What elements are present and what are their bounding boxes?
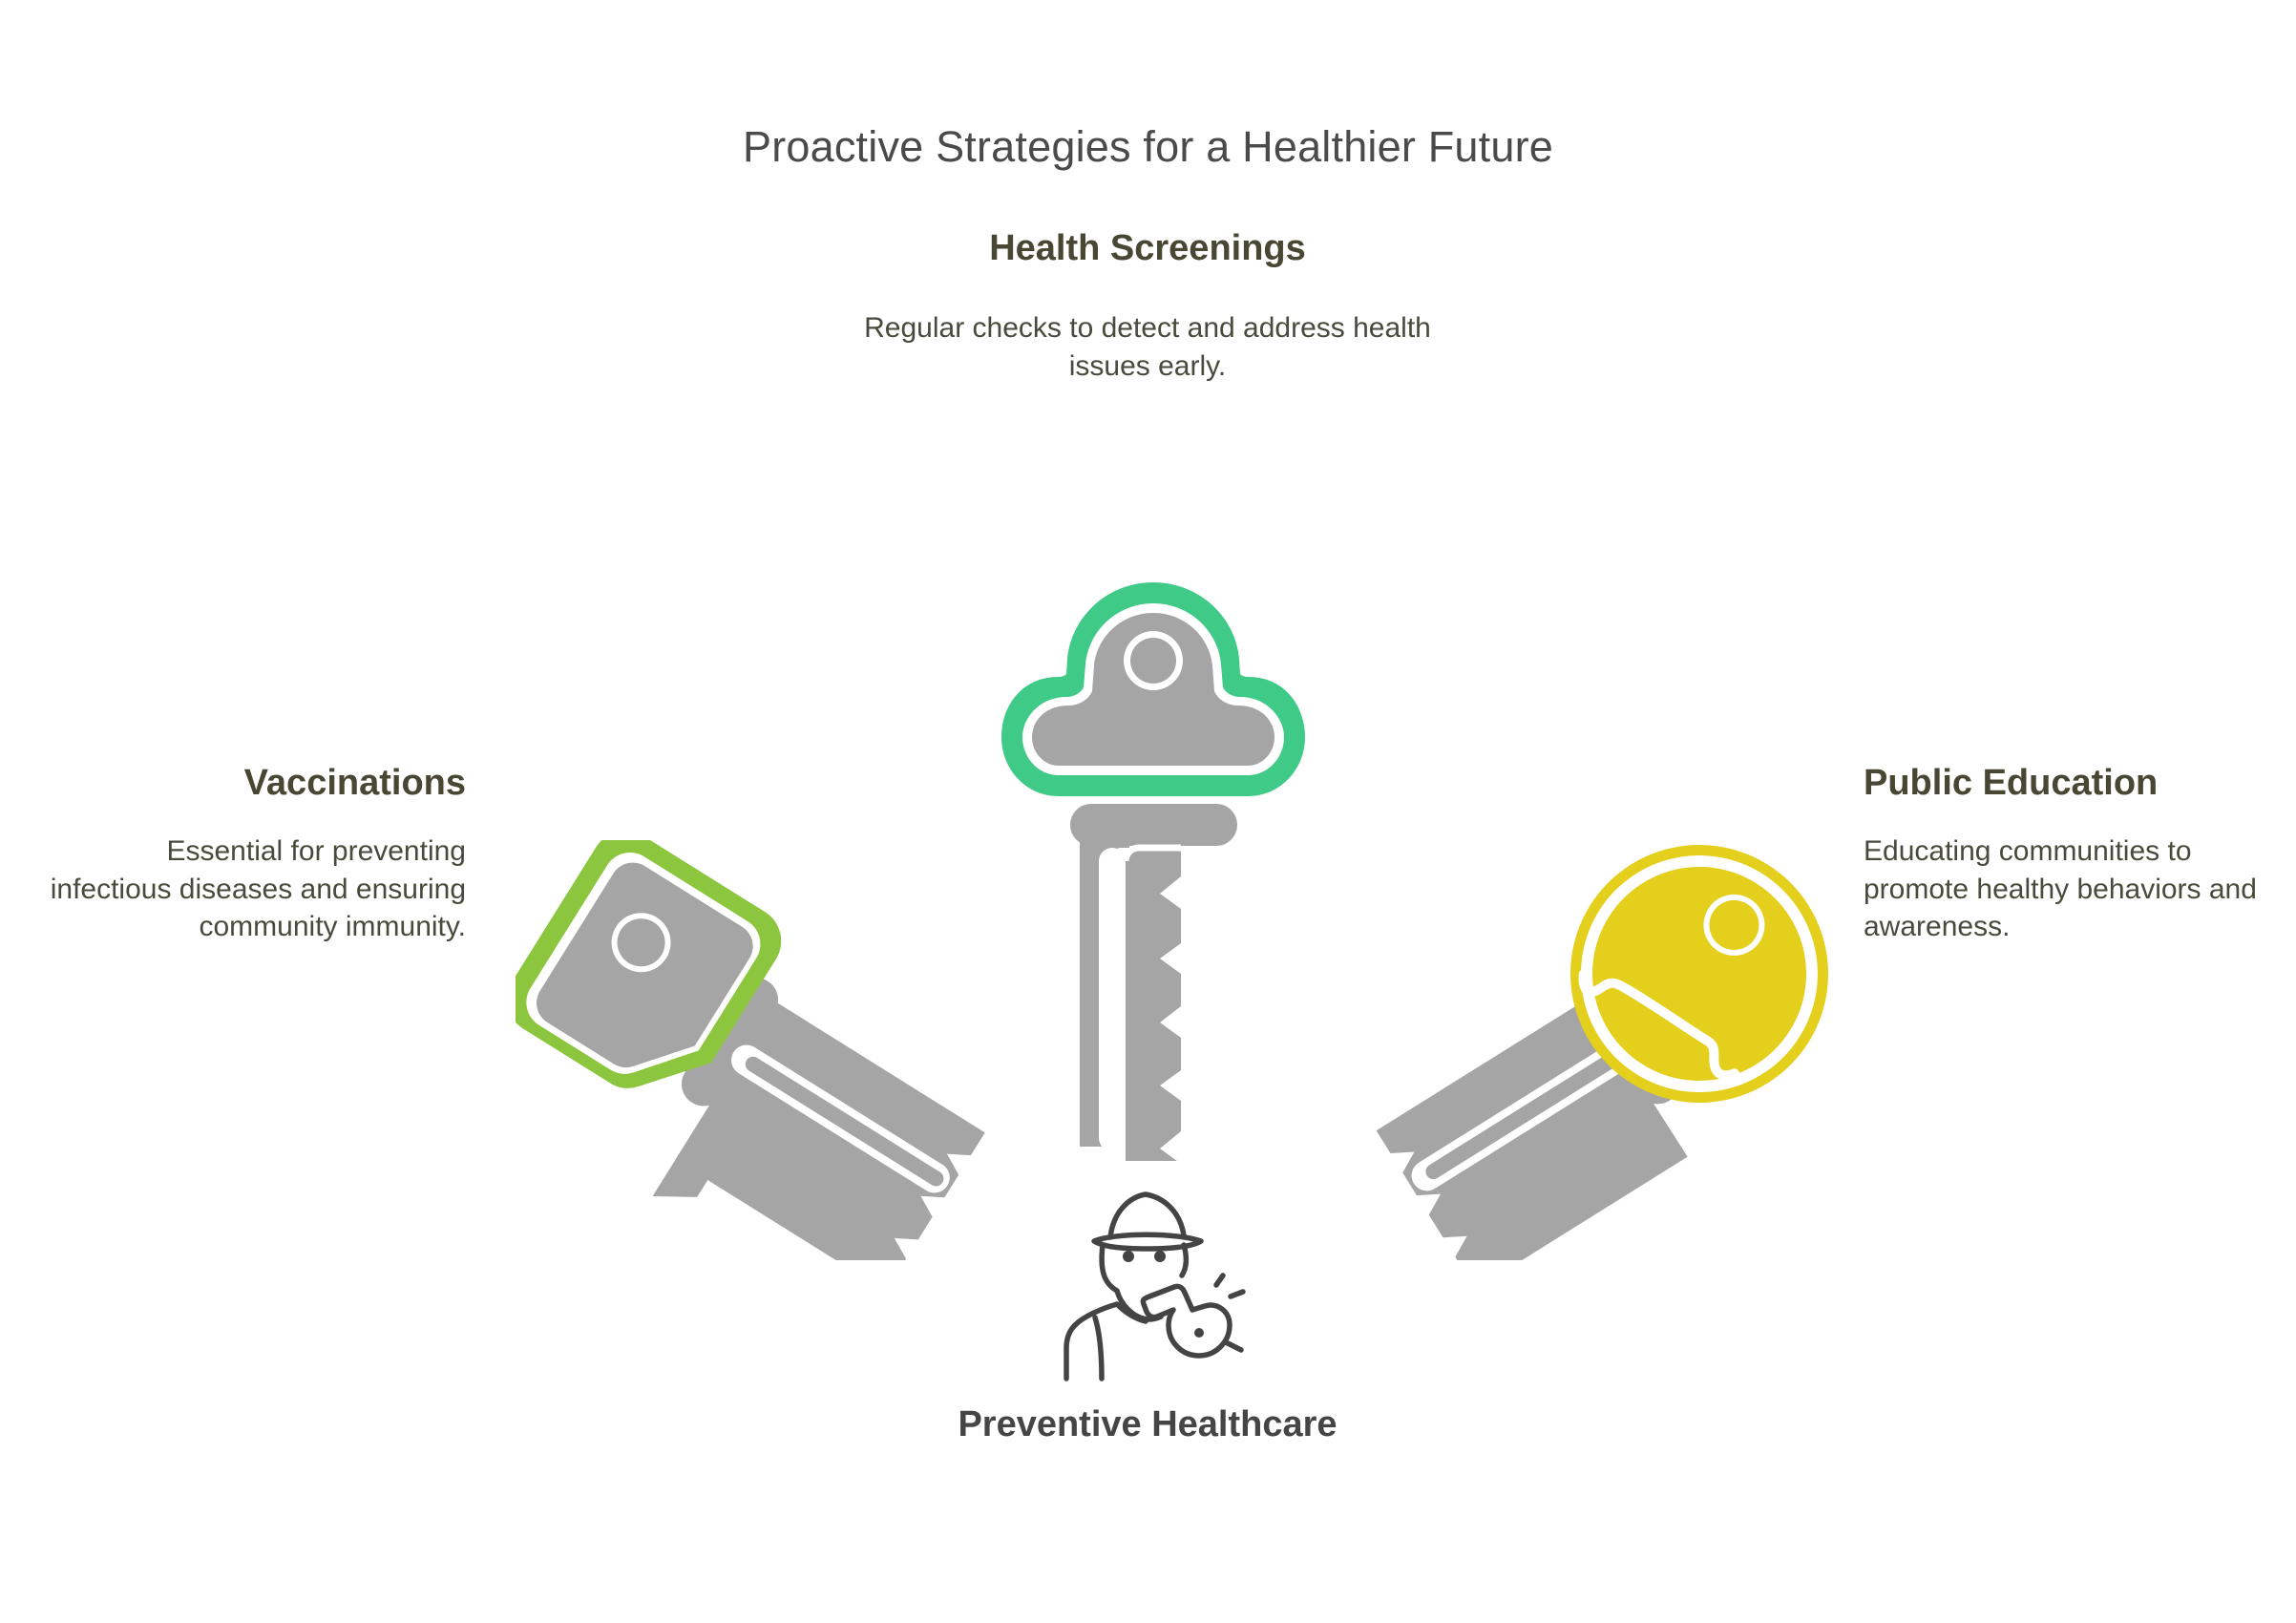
node-public-education: Public Education Educating communities t… <box>1864 762 2264 946</box>
node-health-screenings: Health Screenings Regular checks to dete… <box>861 227 1434 385</box>
key-icon-vaccinations <box>516 840 1088 1260</box>
node-vaccinations: Vaccinations Essential for preventing in… <box>38 762 466 946</box>
person-blowing-whistle-icon <box>1058 1191 1253 1382</box>
node-heading-preventive-healthcare: Preventive Healthcare <box>861 1403 1434 1446</box>
node-heading-public-education: Public Education <box>1864 762 2264 804</box>
node-preventive-healthcare: Preventive Healthcare <box>861 1403 1434 1446</box>
node-description-vaccinations: Essential for preventing infectious dise… <box>38 833 466 946</box>
node-heading-vaccinations: Vaccinations <box>38 762 466 804</box>
node-description-health-screenings: Regular checks to detect and address hea… <box>861 309 1434 385</box>
infographic-canvas: Proactive Strategies for a Healthier Fut… <box>0 0 2296 1623</box>
page-title: Proactive Strategies for a Healthier Fut… <box>0 120 2296 174</box>
node-description-public-education: Educating communities to promote healthy… <box>1864 833 2264 946</box>
key-icon-public-education <box>1270 840 1843 1260</box>
node-heading-health-screenings: Health Screenings <box>861 227 1434 269</box>
